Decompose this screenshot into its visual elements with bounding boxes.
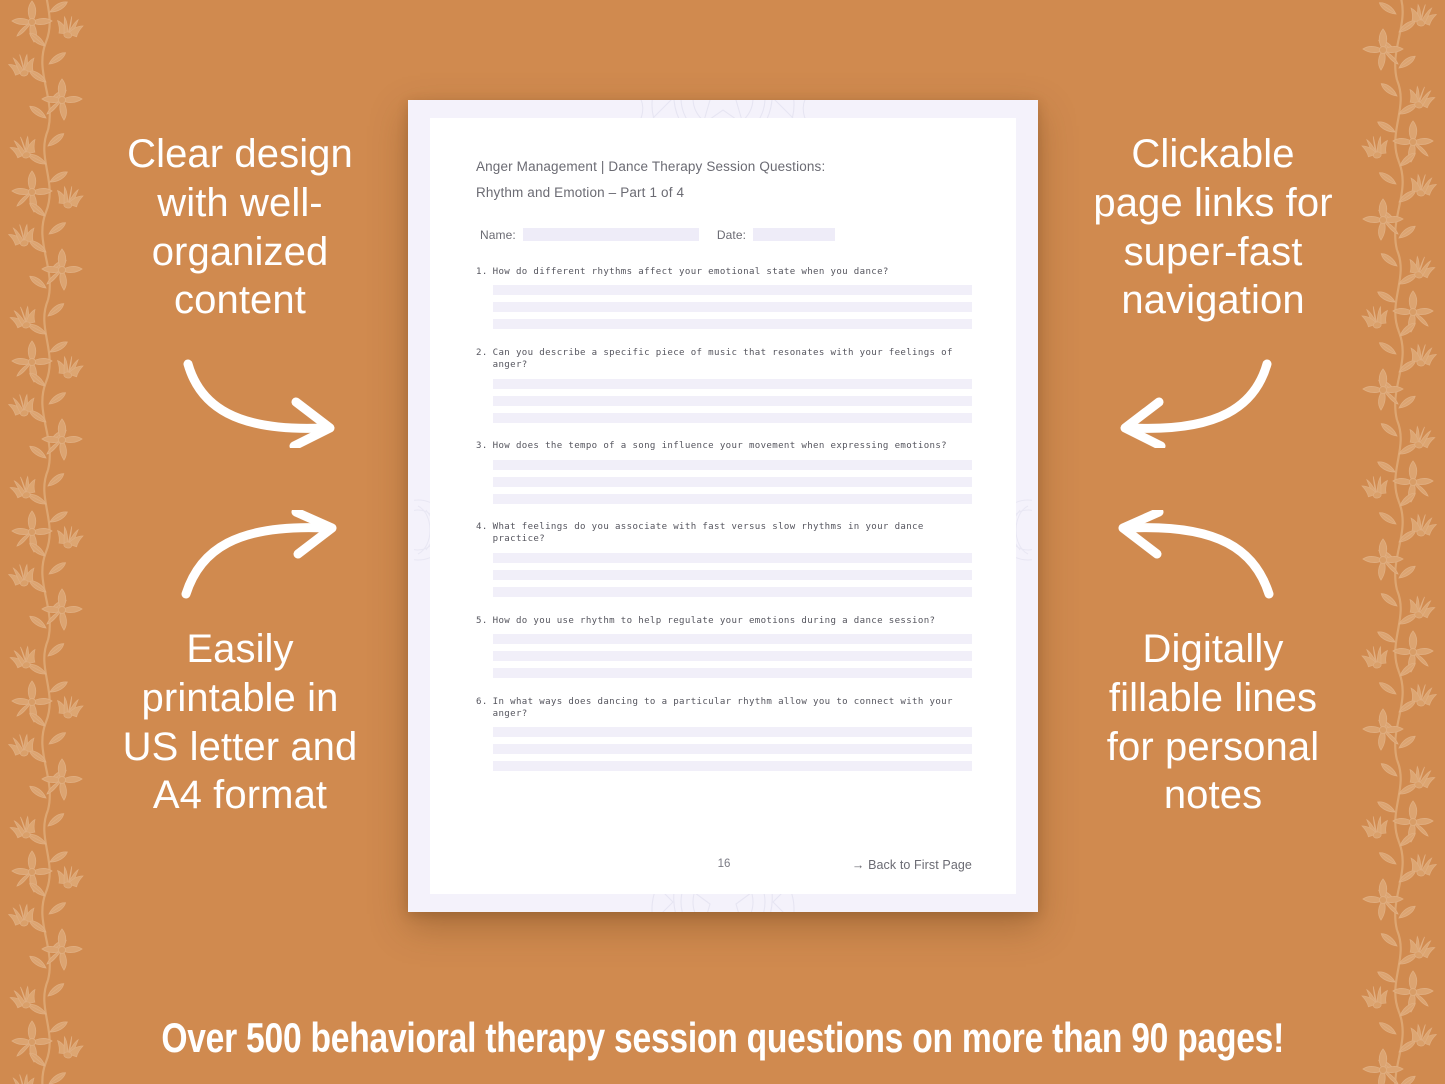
question-number: 2. — [476, 348, 488, 372]
answer-line[interactable] — [493, 413, 972, 423]
answer-line[interactable] — [493, 553, 972, 563]
question-text: How do different rhythms affect your emo… — [493, 267, 889, 279]
answer-line[interactable] — [493, 396, 972, 406]
question-number: 5. — [476, 616, 488, 628]
arrow-up-left-icon — [1101, 510, 1277, 600]
question-block: 1.How do different rhythms affect your e… — [476, 267, 972, 330]
question-text: How does the tempo of a song influence y… — [493, 441, 947, 453]
page-footer: 16 → Back to First Page — [476, 858, 972, 872]
question-number: 1. — [476, 267, 488, 279]
question-text: How do you use rhythm to help regulate y… — [493, 616, 936, 628]
date-label: Date: — [717, 228, 746, 242]
banner-text: Over 500 behavioral therapy session ques… — [161, 1014, 1284, 1062]
answer-lines — [476, 379, 972, 423]
question-text-row: 5.How do you use rhythm to help regulate… — [476, 616, 972, 628]
answer-line[interactable] — [493, 761, 972, 771]
answer-line[interactable] — [493, 587, 972, 597]
answer-line[interactable] — [493, 744, 972, 754]
question-text: What feelings do you associate with fast… — [493, 522, 972, 546]
answer-line[interactable] — [493, 285, 972, 295]
answer-line[interactable] — [493, 668, 972, 678]
question-text-row: 2.Can you describe a specific piece of m… — [476, 348, 972, 372]
question-block: 2.Can you describe a specific piece of m… — [476, 348, 972, 423]
name-input[interactable] — [523, 228, 699, 241]
page-number: 16 — [476, 858, 972, 870]
answer-lines — [476, 727, 972, 771]
answer-lines — [476, 285, 972, 329]
answer-line[interactable] — [493, 494, 972, 504]
question-number: 4. — [476, 522, 488, 546]
worksheet-page-preview[interactable]: Anger Management | Dance Therapy Session… — [408, 100, 1038, 912]
answer-line[interactable] — [493, 477, 972, 487]
answer-line[interactable] — [493, 570, 972, 580]
question-text-row: 6.In what ways does dancing to a particu… — [476, 697, 972, 721]
callout-printable: Easily printable in US letter and A4 for… — [72, 625, 408, 820]
callout-fillable-lines: Digitally fillable lines for personal no… — [1041, 625, 1385, 820]
question-number: 3. — [476, 441, 488, 453]
doc-title-line-1: Anger Management | Dance Therapy Session… — [476, 154, 972, 180]
doc-title-line-2: Rhythm and Emotion – Part 1 of 4 — [476, 180, 972, 206]
question-text-row: 1.How do different rhythms affect your e… — [476, 267, 972, 279]
worksheet-content: Anger Management | Dance Therapy Session… — [430, 118, 1016, 894]
callout-clickable-links: Clickable page links for super-fast navi… — [1041, 130, 1385, 325]
question-text: Can you describe a specific piece of mus… — [493, 348, 972, 372]
name-date-row: Name: Date: — [476, 228, 972, 242]
question-text: In what ways does dancing to a particula… — [493, 697, 972, 721]
question-block: 5.How do you use rhythm to help regulate… — [476, 616, 972, 679]
answer-line[interactable] — [493, 319, 972, 329]
question-block: 4.What feelings do you associate with fa… — [476, 522, 972, 597]
question-block: 6.In what ways does dancing to a particu… — [476, 697, 972, 772]
answer-lines — [476, 634, 972, 678]
promo-stage: Clear design with well- organized conten… — [0, 0, 1445, 995]
question-block: 3.How does the tempo of a song influence… — [476, 441, 972, 504]
answer-line[interactable] — [493, 634, 972, 644]
answer-line[interactable] — [493, 379, 972, 389]
answer-line[interactable] — [493, 460, 972, 470]
answer-line[interactable] — [493, 727, 972, 737]
answer-lines — [476, 553, 972, 597]
arrow-down-right-icon — [178, 358, 354, 448]
promo-banner: Over 500 behavioral therapy session ques… — [0, 992, 1445, 1084]
answer-line[interactable] — [493, 651, 972, 661]
callout-clear-design: Clear design with well- organized conten… — [72, 130, 408, 325]
name-label: Name: — [480, 228, 516, 242]
question-text-row: 3.How does the tempo of a song influence… — [476, 441, 972, 453]
date-input[interactable] — [753, 228, 835, 241]
question-text-row: 4.What feelings do you associate with fa… — [476, 522, 972, 546]
questions-list: 1.How do different rhythms affect your e… — [476, 267, 972, 772]
question-number: 6. — [476, 697, 488, 721]
answer-lines — [476, 460, 972, 504]
page-title: Anger Management | Dance Therapy Session… — [476, 154, 972, 207]
answer-line[interactable] — [493, 302, 972, 312]
arrow-down-left-icon — [1101, 358, 1277, 448]
arrow-up-right-icon — [178, 510, 354, 600]
